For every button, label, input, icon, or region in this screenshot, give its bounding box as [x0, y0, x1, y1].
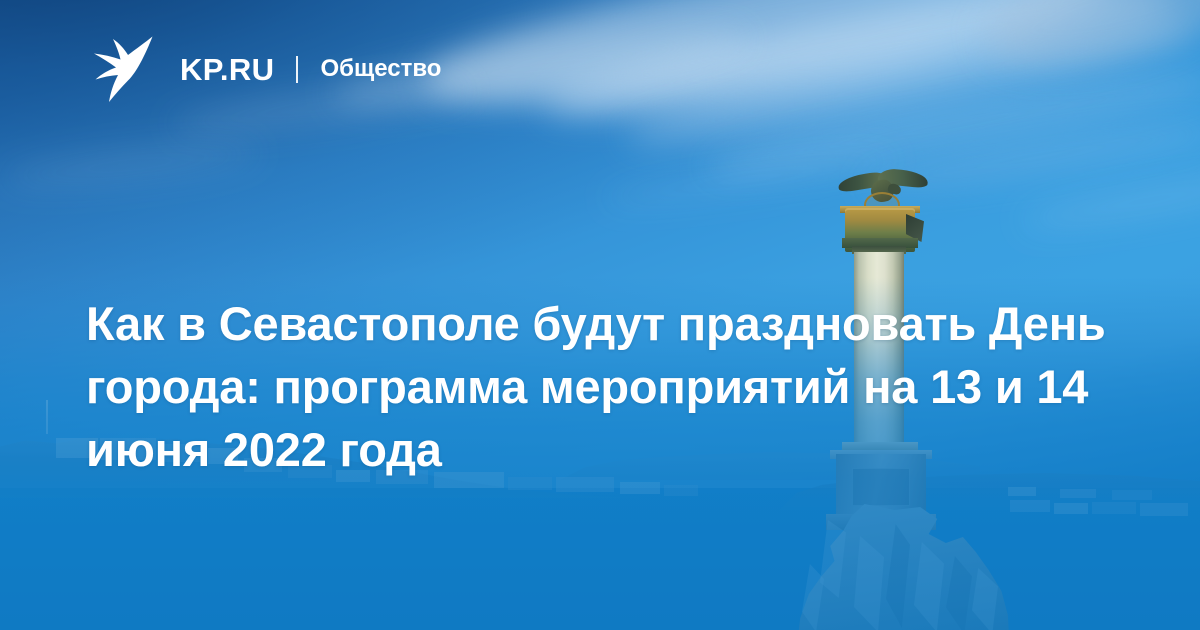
- social-share-card: KP.RU Общество Как в Севастополе будут п…: [0, 0, 1200, 630]
- header-divider: [296, 56, 298, 83]
- rubric-label[interactable]: Общество: [320, 57, 441, 81]
- brand-label[interactable]: KP.RU: [180, 54, 274, 85]
- card-header: KP.RU Общество: [88, 34, 441, 104]
- swallow-bird-logo-icon[interactable]: [88, 34, 154, 104]
- page-title: Как в Севастополе будут праздновать День…: [86, 292, 1116, 481]
